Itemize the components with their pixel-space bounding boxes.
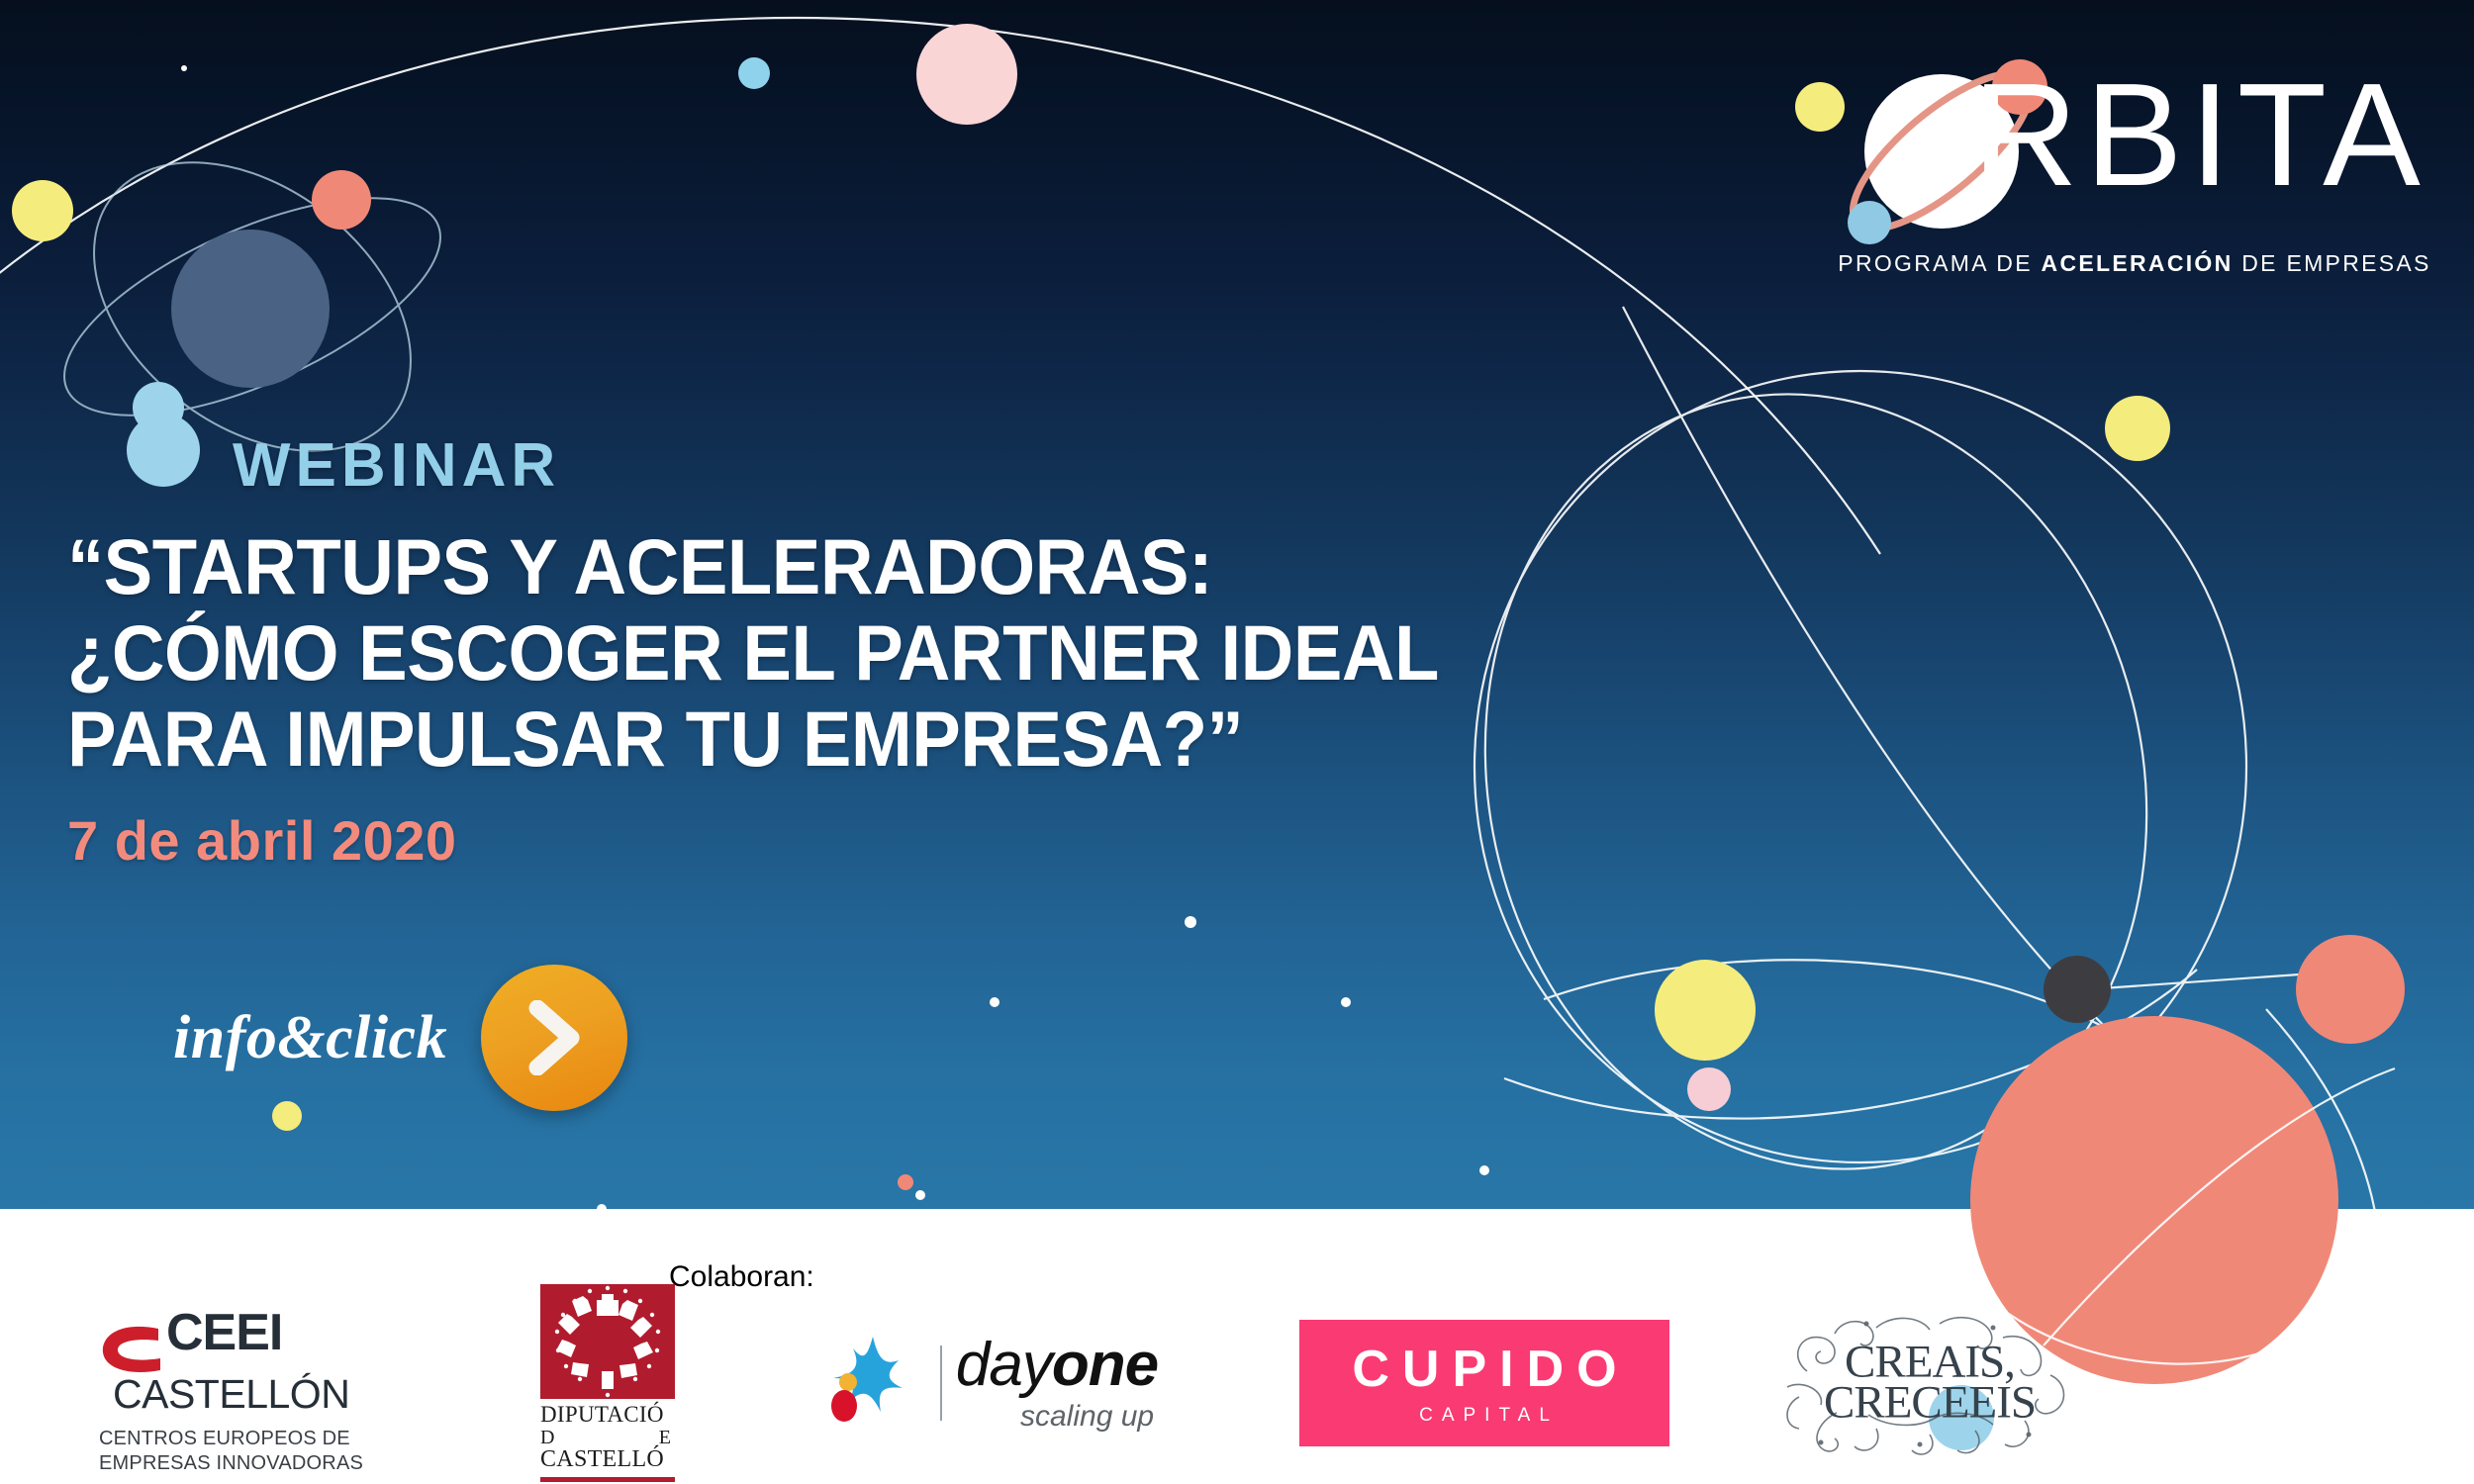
tagline-prefix: PROGRAMA DE <box>1838 250 2041 276</box>
chevron-right-icon <box>523 1000 585 1075</box>
creais-line-2: CRECEEIS <box>1824 1383 2036 1424</box>
logo-ceei-castellon[interactable]: CEEI CASTELLÓN CENTROS EUROPEOS DE EMPRE… <box>0 1309 495 1457</box>
logo-dot-blue <box>1848 201 1891 244</box>
orbita-wordmark: RBITA <box>1972 62 2427 209</box>
hero-title-line-2: ¿CÓMO ESCOGER EL PARTNER IDEAL <box>67 610 1463 696</box>
ceei-city: CASTELLÓN <box>113 1374 396 1415</box>
logo-dayone[interactable]: dayone scaling up <box>732 1331 1247 1436</box>
diputacio-underline <box>540 1477 675 1482</box>
tagline-bold: ACELERACIÓN <box>2042 250 2234 276</box>
logo-dot-yellow <box>1795 82 1845 132</box>
logo-cupido-capital[interactable]: CUPIDO CAPITAL <box>1247 1320 1722 1446</box>
dayone-wordmark: dayone <box>956 1335 1158 1396</box>
orbita-logo: RBITA PROGRAMA DE ACELERACIÓN DE EMPRESA… <box>1826 45 2439 282</box>
cupido-wordmark: CUPIDO <box>1339 1344 1629 1395</box>
orbita-tagline: PROGRAMA DE ACELERACIÓN DE EMPRESAS <box>1830 250 2439 277</box>
diputacio-line-2: D E <box>540 1427 675 1447</box>
ceei-subtitle-line-1: CENTROS EUROPEOS DE <box>99 1427 396 1451</box>
ceei-subtitle-line-2: EMPRESAS INNOVADORAS <box>99 1451 396 1476</box>
hero-title-line-3: PARA IMPULSAR TU EMPRESA?” <box>67 696 1463 783</box>
ceei-swoosh-icon <box>99 1323 162 1376</box>
tagline-suffix: DE EMPRESAS <box>2234 250 2431 276</box>
dayone-one: one <box>1052 1331 1158 1399</box>
dayone-day: day <box>956 1331 1052 1399</box>
cta-label[interactable]: info&click <box>173 1003 447 1073</box>
hero-copy: WEBINAR “STARTUPS Y ACELERADORAS: ¿CÓMO … <box>67 435 1552 873</box>
hero-kicker: WEBINAR <box>233 435 1552 497</box>
diputacio-line-1: DIPUTACIÓ <box>540 1403 675 1426</box>
castle-crown-icon <box>540 1284 675 1399</box>
logo-creais-creceeis[interactable]: CREAIS, CRECEEIS <box>1722 1310 2138 1456</box>
cupido-subtitle: CAPITAL <box>1410 1405 1559 1427</box>
logo-diputacio-castello[interactable]: DIPUTACIÓ D E CASTELLÓ <box>495 1284 732 1481</box>
hero-title: “STARTUPS Y ACELERADORAS: ¿CÓMO ESCOGER … <box>67 524 1463 783</box>
info-click-cta[interactable]: info&click <box>173 965 627 1111</box>
diputacio-line-3: CASTELLÓ <box>540 1447 675 1471</box>
webinar-promo-poster: WEBINAR “STARTUPS Y ACELERADORAS: ¿CÓMO … <box>0 0 2474 1484</box>
dayone-divider <box>940 1345 942 1421</box>
caixabank-star-icon <box>821 1331 926 1436</box>
ceei-letters: CEEI <box>166 1309 282 1357</box>
event-date: 7 de abril 2020 <box>67 808 1552 873</box>
diputacio-text: DIPUTACIÓ D E CASTELLÓ <box>540 1403 675 1471</box>
ceei-subtitle: CENTROS EUROPEOS DE EMPRESAS INNOVADORAS <box>99 1427 396 1476</box>
diputacio-line-2-left: D <box>540 1428 554 1447</box>
dayone-subtitle: scaling up <box>1020 1402 1154 1432</box>
diputacio-emblem <box>540 1284 675 1399</box>
collaborator-logos: CEEI CASTELLÓN CENTROS EUROPEOS DE EMPRE… <box>0 1304 2474 1462</box>
cta-arrow-button[interactable] <box>481 965 627 1111</box>
hero-title-line-1: “STARTUPS Y ACELERADORAS: <box>67 524 1463 610</box>
diputacio-line-2-right: E <box>659 1428 671 1447</box>
